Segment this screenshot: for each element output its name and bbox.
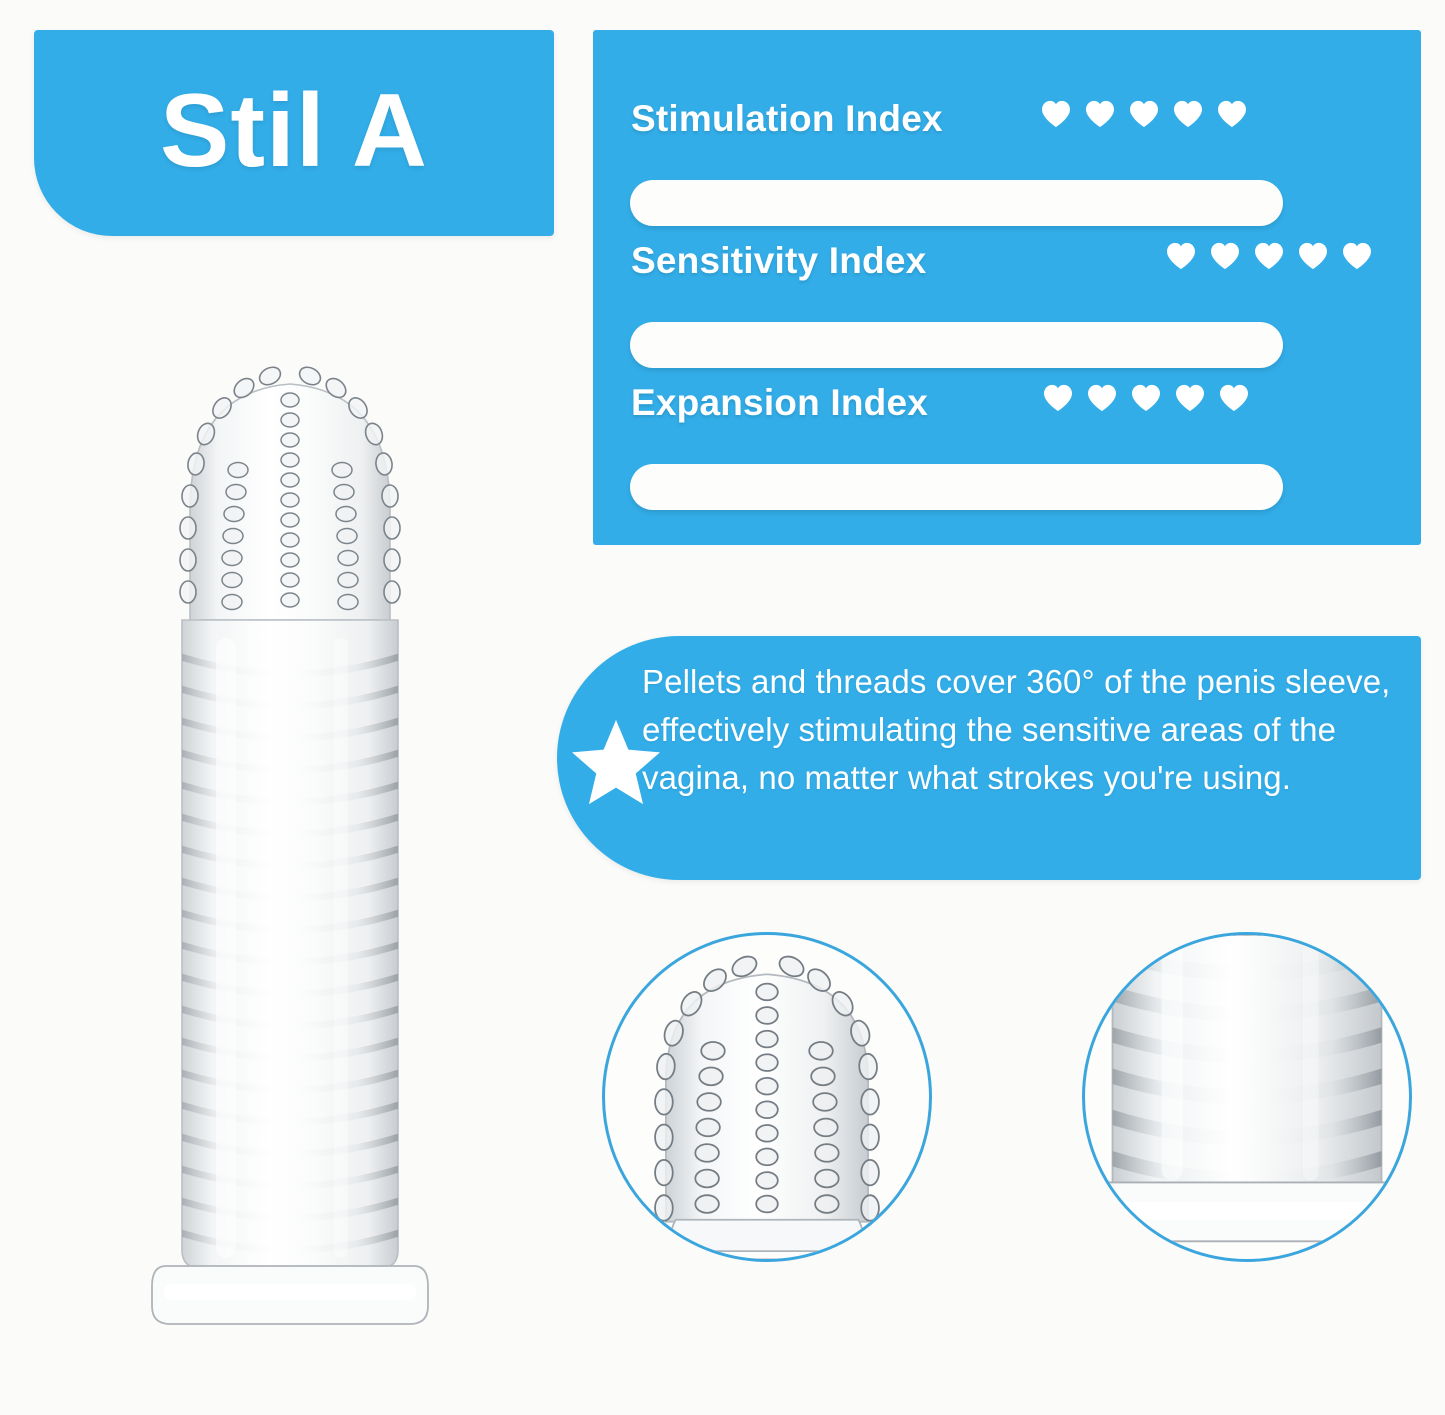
inset-ribbed-base-closeup: [1082, 932, 1412, 1262]
index-row-expansion: Expansion Index: [593, 372, 1421, 434]
heart-icon: [1175, 384, 1205, 412]
heart-icon: [1087, 384, 1117, 412]
rating-hearts-sensitivity: [1166, 242, 1372, 270]
heart-icon: [1043, 384, 1073, 412]
index-bar-sensitivity: [630, 322, 1283, 368]
rating-hearts-expansion: [1043, 384, 1249, 412]
index-row-header: Expansion Index: [593, 372, 1421, 434]
heart-icon: [1131, 384, 1161, 412]
heart-icon: [1210, 242, 1240, 270]
index-label-expansion: Expansion Index: [631, 382, 928, 424]
heart-icon: [1041, 100, 1071, 128]
heart-icon: [1219, 384, 1249, 412]
index-row-stimulation: Stimulation Index: [593, 88, 1421, 150]
heart-icon: [1217, 100, 1247, 128]
product-hero-image: [120, 320, 460, 1330]
feature-callout: Pellets and threads cover 360° of the pe…: [557, 636, 1421, 880]
heart-icon: [1254, 242, 1284, 270]
rating-hearts-stimulation: [1041, 100, 1247, 128]
index-bar-expansion: [630, 464, 1283, 510]
product-infographic: Stil A Stimulation Index Sensitivity Ind…: [0, 0, 1445, 1415]
heart-icon: [1129, 100, 1159, 128]
callout-text: Pellets and threads cover 360° of the pe…: [642, 658, 1412, 802]
index-row-sensitivity: Sensitivity Index: [593, 230, 1421, 292]
index-label-sensitivity: Sensitivity Index: [631, 240, 926, 282]
title-badge: Stil A: [34, 30, 554, 236]
page-title: Stil A: [34, 79, 554, 183]
index-row-header: Sensitivity Index: [593, 230, 1421, 292]
index-label-stimulation: Stimulation Index: [631, 98, 943, 140]
index-panel: Stimulation Index Sensitivity Index: [593, 30, 1421, 545]
heart-icon: [1173, 100, 1203, 128]
heart-icon: [1085, 100, 1115, 128]
inset-nubbed-tip-closeup: [602, 932, 932, 1262]
heart-icon: [1166, 242, 1196, 270]
heart-icon: [1298, 242, 1328, 270]
index-row-header: Stimulation Index: [593, 88, 1421, 150]
index-bar-stimulation: [630, 180, 1283, 226]
heart-icon: [1342, 242, 1372, 270]
